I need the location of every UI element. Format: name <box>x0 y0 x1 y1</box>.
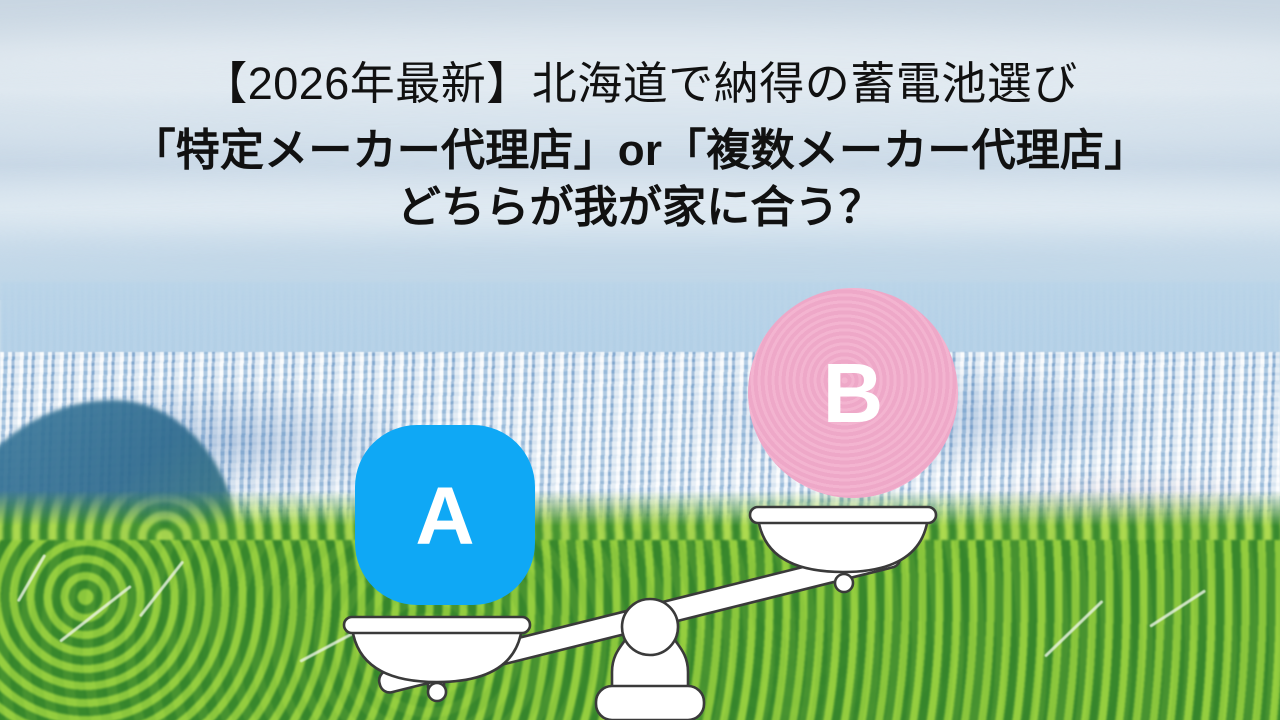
option-a-badge[interactable]: A <box>355 425 535 605</box>
title-line-2: 「特定メーカー代理店」or「複数メーカー代理店」 <box>0 122 1280 179</box>
eyecatch-canvas: 【2026年最新】北海道で納得の蓄電池選び 「特定メーカー代理店」or「複数メー… <box>0 0 1280 720</box>
option-b-label: B <box>823 351 884 435</box>
title-block: 【2026年最新】北海道で納得の蓄電池選び 「特定メーカー代理店」or「複数メー… <box>0 56 1280 237</box>
option-a-label: A <box>415 476 474 558</box>
title-line-3: どちらが我が家に合う？ <box>0 179 1280 236</box>
option-b-badge[interactable]: B <box>748 288 958 498</box>
forest-foreground <box>0 540 1280 720</box>
title-line-1: 【2026年最新】北海道で納得の蓄電池選び <box>0 56 1280 112</box>
cloud-band <box>0 238 1280 282</box>
